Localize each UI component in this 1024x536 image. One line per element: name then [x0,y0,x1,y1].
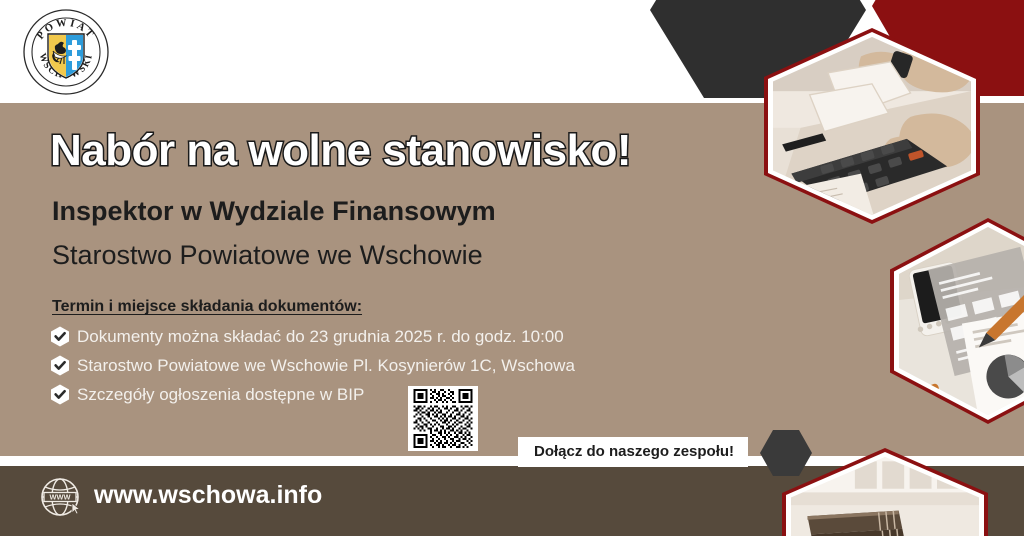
globe-www-icon: WWW [38,474,84,520]
list-item: Szczegóły ogłoszenia dostępne w BIP [50,380,575,409]
globe-www-label: WWW [50,493,71,502]
page-title: Nabór na wolne stanowisko! [50,126,631,176]
photo-charts-image [899,227,1024,415]
coat-of-arms-logo: POWIAT WSCHOWSKI [20,8,112,96]
poster-root: POWIAT WSCHOWSKI Nabór na wolne stanowis… [0,0,1024,536]
qr-code[interactable] [408,386,478,451]
organization-name: Starostwo Powiatowe we Wschowie [52,240,483,271]
list-item: Dokumenty można składać do 23 grudnia 20… [50,322,575,351]
details-list: Dokumenty można składać do 23 grudnia 20… [50,322,575,409]
list-item-label: Szczegóły ogłoszenia dostępne w BIP [77,385,364,405]
join-team-badge: Dołącz do naszego zespołu! [518,437,748,467]
list-item-label: Starostwo Powiatowe we Wschowie Pl. Kosy… [77,356,575,376]
details-heading: Termin i miejsce składania dokumentów: [52,298,362,316]
check-shield-icon [50,326,70,347]
check-shield-icon [50,355,70,376]
position-title: Inspektor w Wydziale Finansowym [52,196,496,227]
list-item-label: Dokumenty można składać do 23 grudnia 20… [77,327,564,347]
check-shield-icon [50,384,70,405]
website-url[interactable]: www.wschowa.info [94,481,322,510]
list-item: Starostwo Powiatowe we Wschowie Pl. Kosy… [50,351,575,380]
